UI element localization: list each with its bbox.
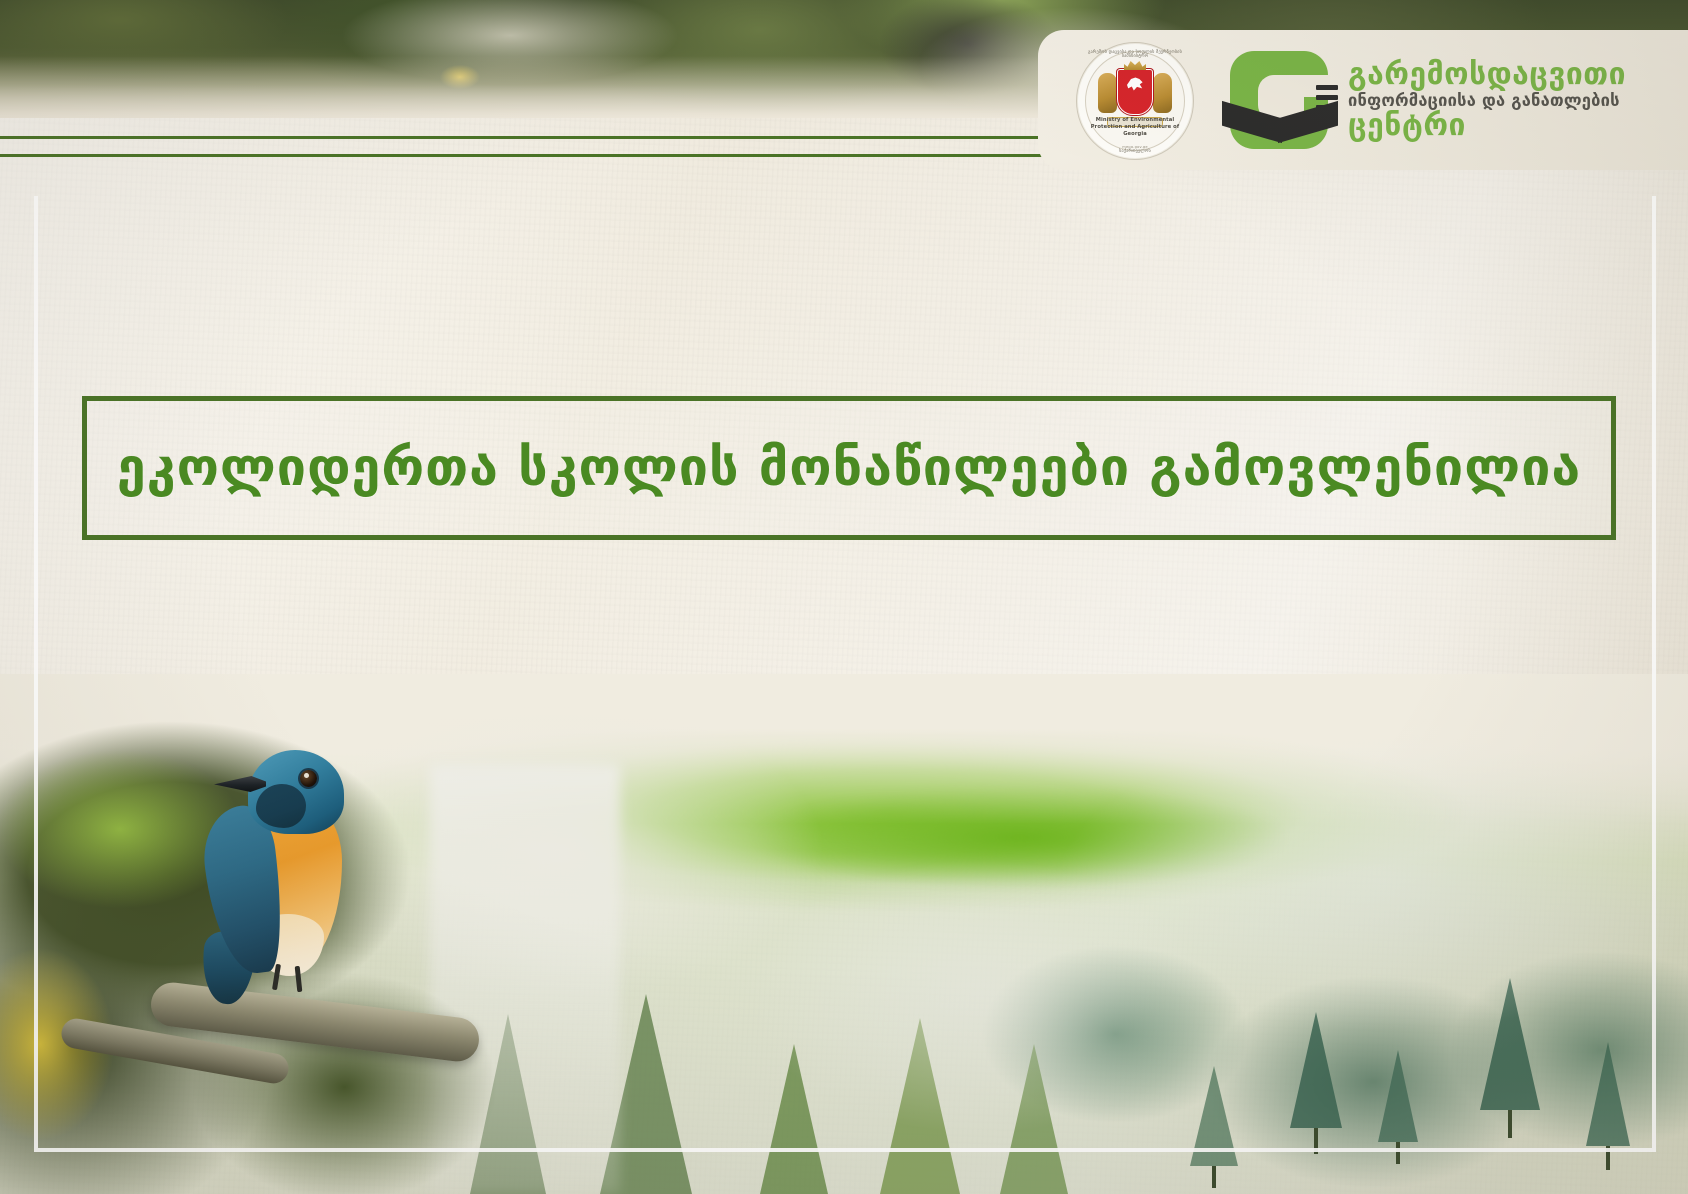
conifer-tree [1000, 1044, 1068, 1194]
seal-ka-bottom-text: საქართველოს [1077, 149, 1193, 153]
ministry-seal-icon: გარემოს დაცვისა და სოფლის მეურნეობის სამ… [1076, 42, 1194, 160]
seal-url-text: mepa.gov.ge [1077, 145, 1193, 149]
conifer-tree [1190, 1066, 1238, 1188]
eiec-logo: გარემოსდაცვითი ინფორმაციისა და განათლები… [1228, 49, 1626, 153]
seal-ka-top-text: გარემოს დაცვისა და სოფლის მეურნეობის სამ… [1077, 50, 1193, 58]
logo-row: გარემოს დაცვისა და სოფლის მეურნეობის სამ… [1076, 42, 1626, 160]
flycatcher-bird [196, 736, 376, 996]
poster: გარემოს დაცვისა და სოფლის მეურნეობის სამ… [0, 0, 1688, 1194]
header-rule-bottom [0, 154, 1112, 157]
book-page-right [1278, 99, 1338, 145]
conifer-tree [880, 1018, 960, 1194]
eiec-text-line-3: ცენტრი [1348, 111, 1626, 142]
title-box: ეკოლიდერთა სკოლის მონაწილეები გამოვლენილ… [82, 396, 1616, 540]
eiec-text-line-1: გარემოსდაცვითი [1348, 60, 1626, 91]
header-rule-top [0, 136, 1112, 139]
eiec-logo-text: გარემოსდაცვითი ინფორმაციისა და განათლები… [1348, 60, 1626, 141]
eiec-mark-icon [1228, 49, 1332, 153]
bird-eye [300, 770, 317, 787]
bird-cheek [256, 784, 306, 828]
open-book-icon [1222, 99, 1338, 151]
seal-english-text: Ministry of Environmental Protection and… [1083, 117, 1187, 138]
logo-panel: გარემოს დაცვისა და სოფლის მეურნეობის სამ… [1038, 30, 1688, 170]
seal-coat-of-arms [1098, 65, 1172, 119]
conifer-tree [1378, 1050, 1418, 1164]
conifer-tree [1586, 1042, 1630, 1170]
page-title: ეკოლიდერთა სკოლის მონაწილეები გამოვლენილ… [117, 438, 1581, 498]
bird-eye-highlight [304, 773, 309, 778]
seal-lion-left-icon [1098, 73, 1117, 113]
seal-lion-right-icon [1153, 73, 1172, 113]
conifer-tree [760, 1044, 828, 1194]
conifer-tree [1290, 1012, 1342, 1154]
seal-shield-icon [1117, 69, 1153, 115]
conifer-tree [1480, 978, 1540, 1138]
seal-crown-icon [1124, 59, 1146, 70]
book-page-left [1222, 99, 1282, 145]
eiec-bar-1 [1316, 85, 1338, 90]
